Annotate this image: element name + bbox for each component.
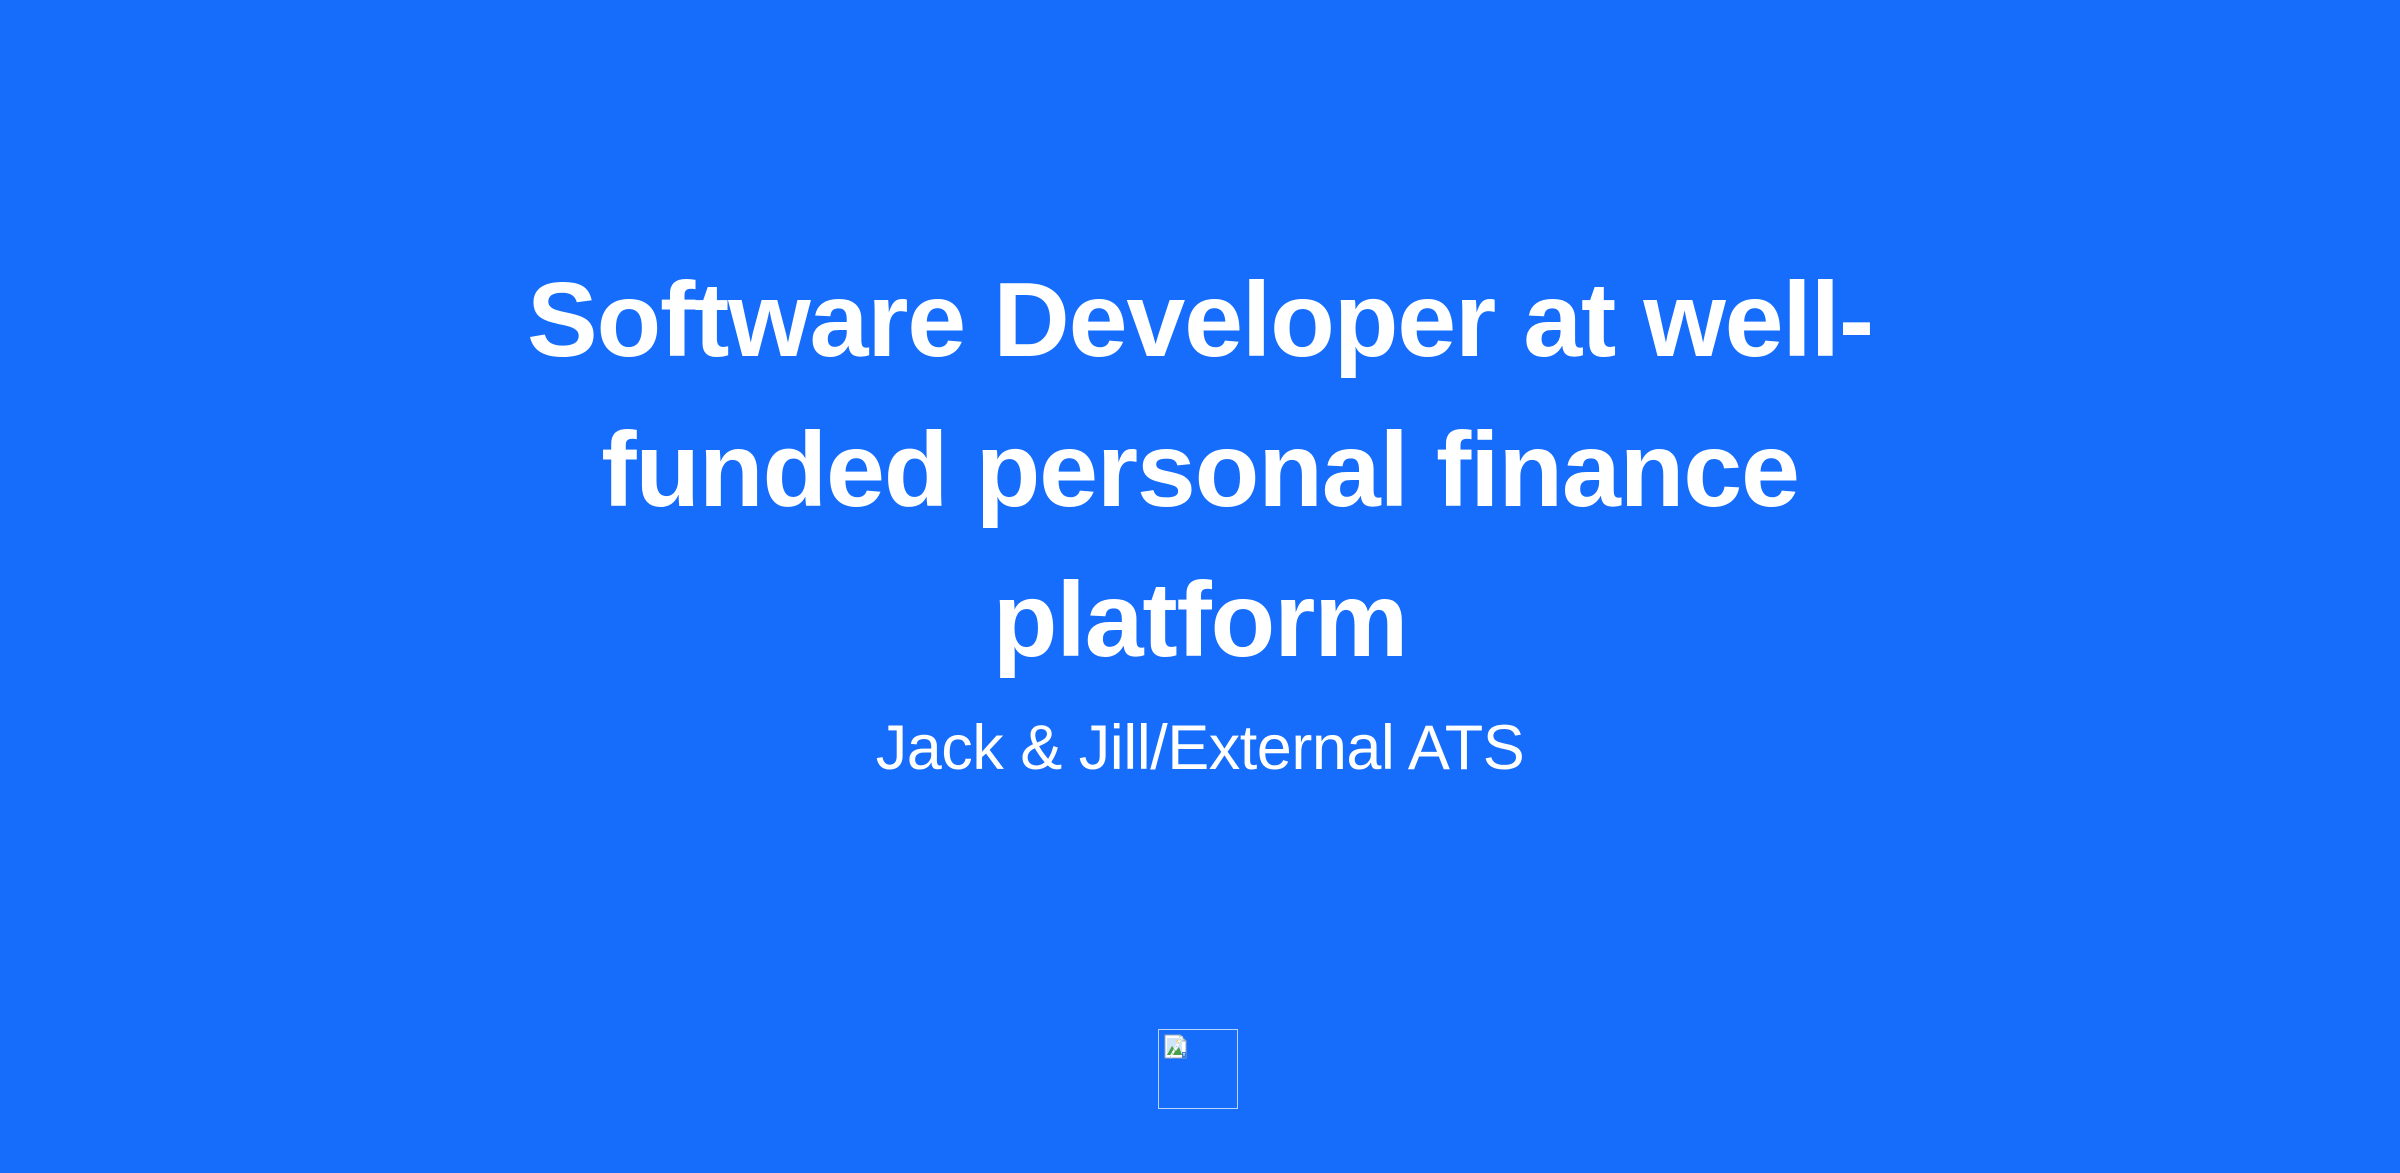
broken-image-placeholder	[1158, 1029, 1238, 1109]
page-title: Software Developer at well-funded person…	[390, 245, 2010, 695]
job-posting-slide: Software Developer at well-funded person…	[0, 0, 2400, 1173]
broken-image-icon	[1162, 1033, 1190, 1061]
company-logo-slot	[1158, 1029, 1238, 1109]
slide-content: Software Developer at well-funded person…	[0, 0, 2400, 1173]
job-subtitle: Jack & Jill/External ATS	[350, 707, 2050, 789]
